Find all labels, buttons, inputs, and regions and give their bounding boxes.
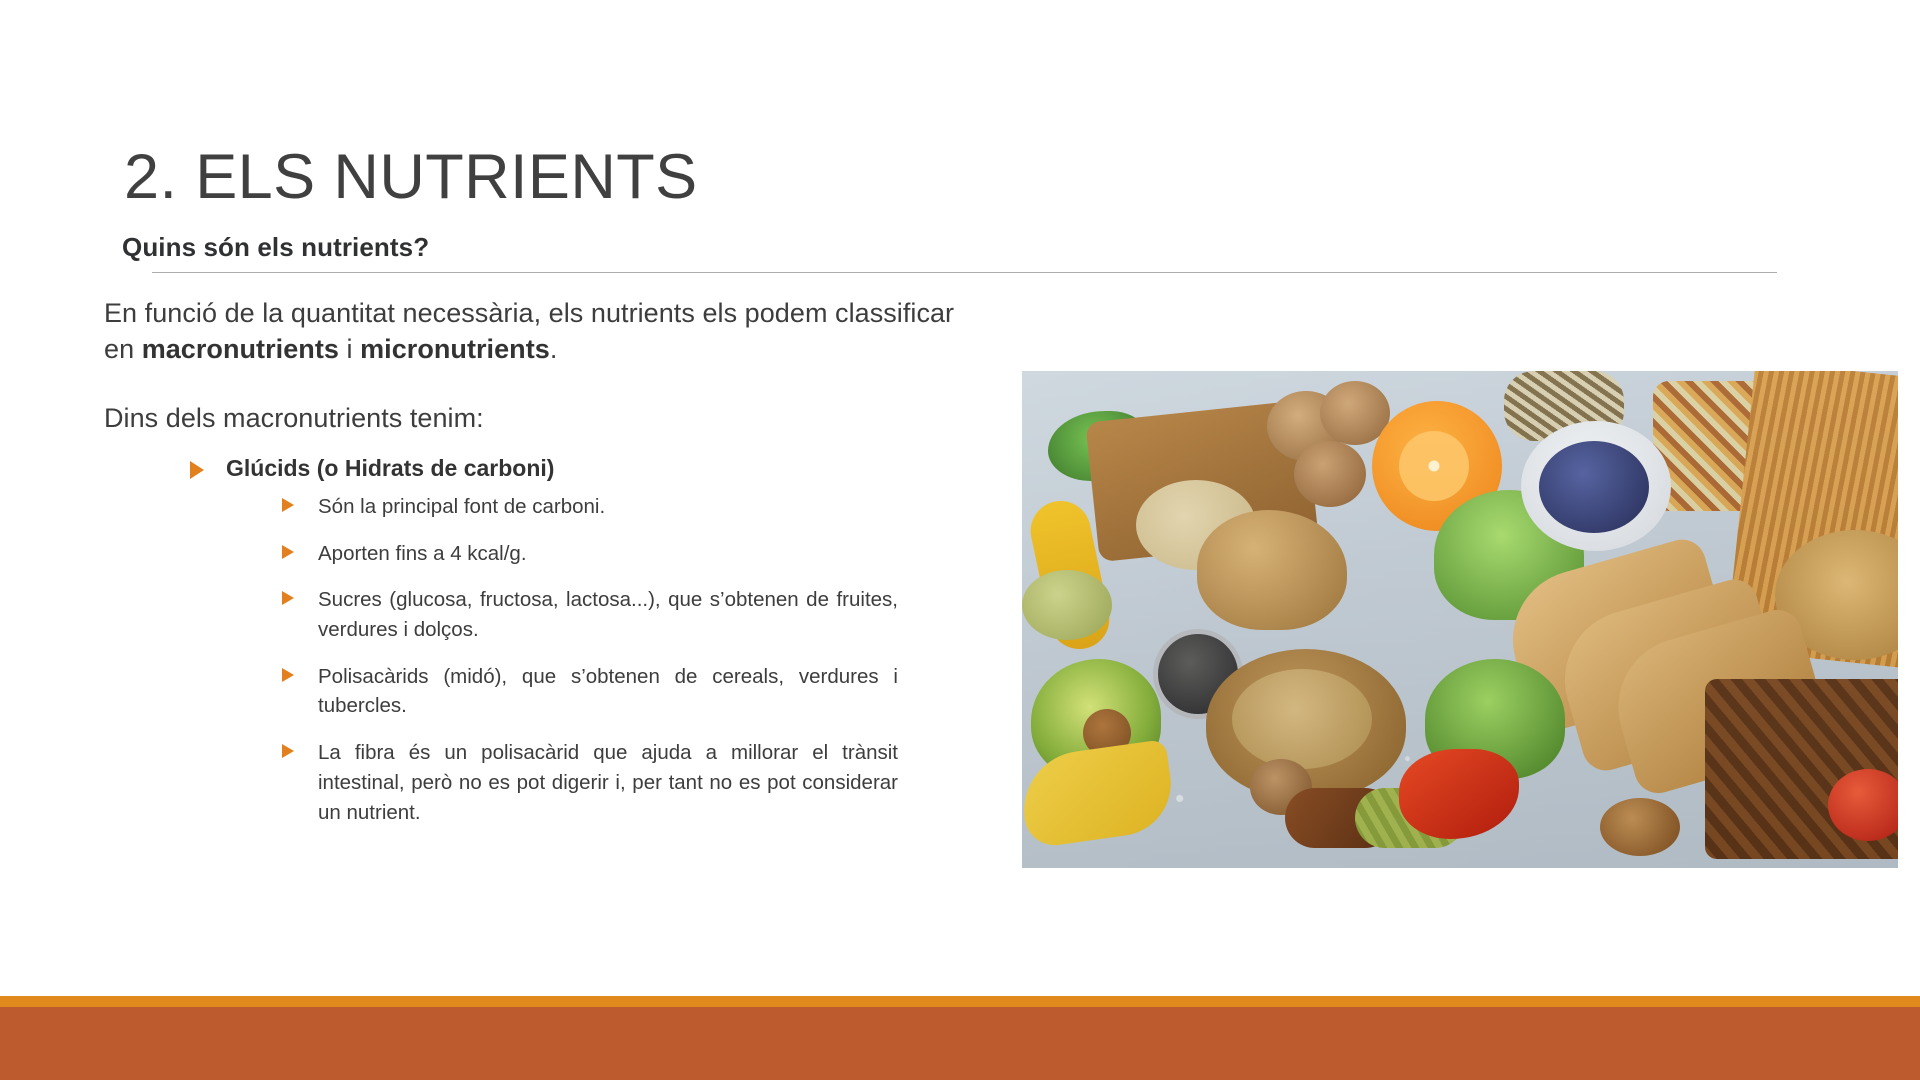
- list-item: Sucres (glucosa, fructosa, lactosa...), …: [282, 585, 898, 644]
- page-title: 2. ELS NUTRIENTS: [124, 142, 698, 213]
- triangle-bullet-icon: [190, 461, 204, 479]
- list-item-label: Glúcids (o Hidrats de carboni): [226, 455, 554, 481]
- bullet-list-level-2: Són la principal font de carboni. Aporte…: [226, 492, 974, 827]
- paragraph-spacer: [104, 375, 974, 401]
- triangle-bullet-icon: [282, 744, 294, 758]
- photo-backdrop: [1022, 371, 1898, 868]
- intro-text-conjunction: i: [339, 334, 360, 364]
- list-item: Polisacàrids (midó), que s’obtenen de ce…: [282, 662, 898, 721]
- intro-paragraph: En funció de la quantitat necessària, el…: [104, 296, 974, 367]
- slide-subtitle: Quins són els nutrients?: [122, 232, 429, 263]
- subtitle-divider: [152, 272, 1777, 273]
- list-item-glucids: Glúcids (o Hidrats de carboni) Són la pr…: [190, 455, 974, 827]
- triangle-bullet-icon: [282, 545, 294, 559]
- triangle-bullet-icon: [282, 498, 294, 512]
- triangle-bullet-icon: [282, 668, 294, 682]
- intro-text-period: .: [550, 334, 558, 364]
- body-text-column: En funció de la quantitat necessària, el…: [104, 296, 974, 831]
- list-item: Aporten fins a 4 kcal/g.: [282, 539, 898, 569]
- term-micronutrients: micronutrients: [360, 334, 550, 364]
- footer-accent-stripe: [0, 996, 1920, 1007]
- list-item-label: Polisacàrids (midó), que s’obtenen de ce…: [318, 665, 898, 718]
- list-item: La fibra és un polisacàrid que ajuda a m…: [282, 738, 898, 827]
- list-item-label: Aporten fins a 4 kcal/g.: [318, 542, 527, 565]
- list-item-label: Sucres (glucosa, fructosa, lactosa...), …: [318, 588, 898, 641]
- term-macronutrients: macronutrients: [142, 334, 339, 364]
- list-item-label: La fibra és un polisacàrid que ajuda a m…: [318, 741, 898, 823]
- list-item-label: Són la principal font de carboni.: [318, 495, 605, 518]
- triangle-bullet-icon: [282, 591, 294, 605]
- photo-overlay: [1022, 371, 1898, 868]
- footer-band: [0, 1007, 1920, 1080]
- slide-canvas: 2. ELS NUTRIENTS Quins són els nutrients…: [0, 0, 1920, 1080]
- bullet-list-level-1: Glúcids (o Hidrats de carboni) Són la pr…: [104, 455, 974, 827]
- list-item: Són la principal font de carboni.: [282, 492, 898, 522]
- lead-in-paragraph: Dins dels macronutrients tenim:: [104, 401, 974, 437]
- food-photo: [1022, 371, 1898, 868]
